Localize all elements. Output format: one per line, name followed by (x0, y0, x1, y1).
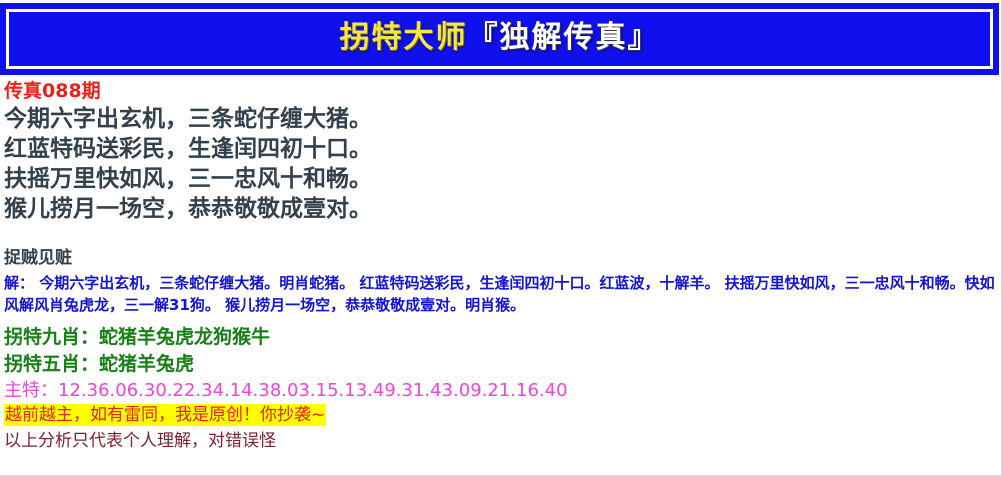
spacer (4, 316, 997, 324)
poem-line: 今期六字出玄机，三条蛇仔缠大猪。 (4, 104, 997, 134)
nine-zodiac-label: 拐特九肖： (4, 326, 99, 348)
header-banner-frame: 拐特大师『独解传真』 (6, 9, 993, 69)
spacer (4, 224, 997, 246)
page-root: 拐特大师『独解传真』 传真088期 今期六字出玄机，三条蛇仔缠大猪。 红蓝特码送… (0, 0, 1003, 477)
main-numbers-label: 主特： (4, 380, 58, 401)
page-title-main: 拐特大师 (340, 20, 468, 55)
warning-text: 越前越主，如有雷同，我是原创！你抄袭~ (4, 404, 326, 426)
main-content: 传真088期 今期六字出玄机，三条蛇仔缠大猪。 红蓝特码送彩民，生逢闰四初十口。… (4, 80, 997, 454)
poem-block: 今期六字出玄机，三条蛇仔缠大猪。 红蓝特码送彩民，生逢闰四初十口。 扶摇万里快如… (4, 104, 997, 224)
main-numbers-row: 主特：12.36.06.30.22.34.14.38.03.15.13.49.3… (4, 378, 997, 403)
nine-zodiac-value: 蛇猪羊兔虎龙狗猴牛 (99, 326, 270, 348)
five-zodiac-label: 拐特五肖： (4, 353, 99, 375)
header-banner: 拐特大师『独解传真』 (0, 3, 999, 75)
main-numbers-value: 12.36.06.30.22.34.14.38.03.15.13.49.31.4… (58, 380, 568, 401)
page-title: 拐特大师『独解传真』 (340, 23, 660, 53)
page-title-sub: 『独解传真』 (468, 20, 660, 55)
five-zodiac-row: 拐特五肖：蛇猪羊兔虎 (4, 351, 997, 378)
issue-label: 传真088期 (4, 80, 997, 102)
nine-zodiac-row: 拐特九肖：蛇猪羊兔虎龙狗猴牛 (4, 324, 997, 351)
poem-line: 扶摇万里快如风，三一忠风十和畅。 (4, 164, 997, 194)
analysis-paragraph: 解： 今期六字出玄机，三条蛇仔缠大猪。明肖蛇猪。 红蓝特码送彩民，生逢闰四初十口… (4, 272, 997, 316)
poem-line: 红蓝特码送彩民，生逢闰四初十口。 (4, 134, 997, 164)
poem-line: 猴儿捞月一场空，恭恭敬敬成壹对。 (4, 194, 997, 224)
five-zodiac-value: 蛇猪羊兔虎 (99, 353, 194, 375)
analysis-heading: 捉贼见赃 (4, 246, 997, 270)
disclaimer-text: 以上分析只代表个人理解，对错误怪 (4, 428, 997, 454)
warning-row: 越前越主，如有雷同，我是原创！你抄袭~ (4, 403, 997, 426)
